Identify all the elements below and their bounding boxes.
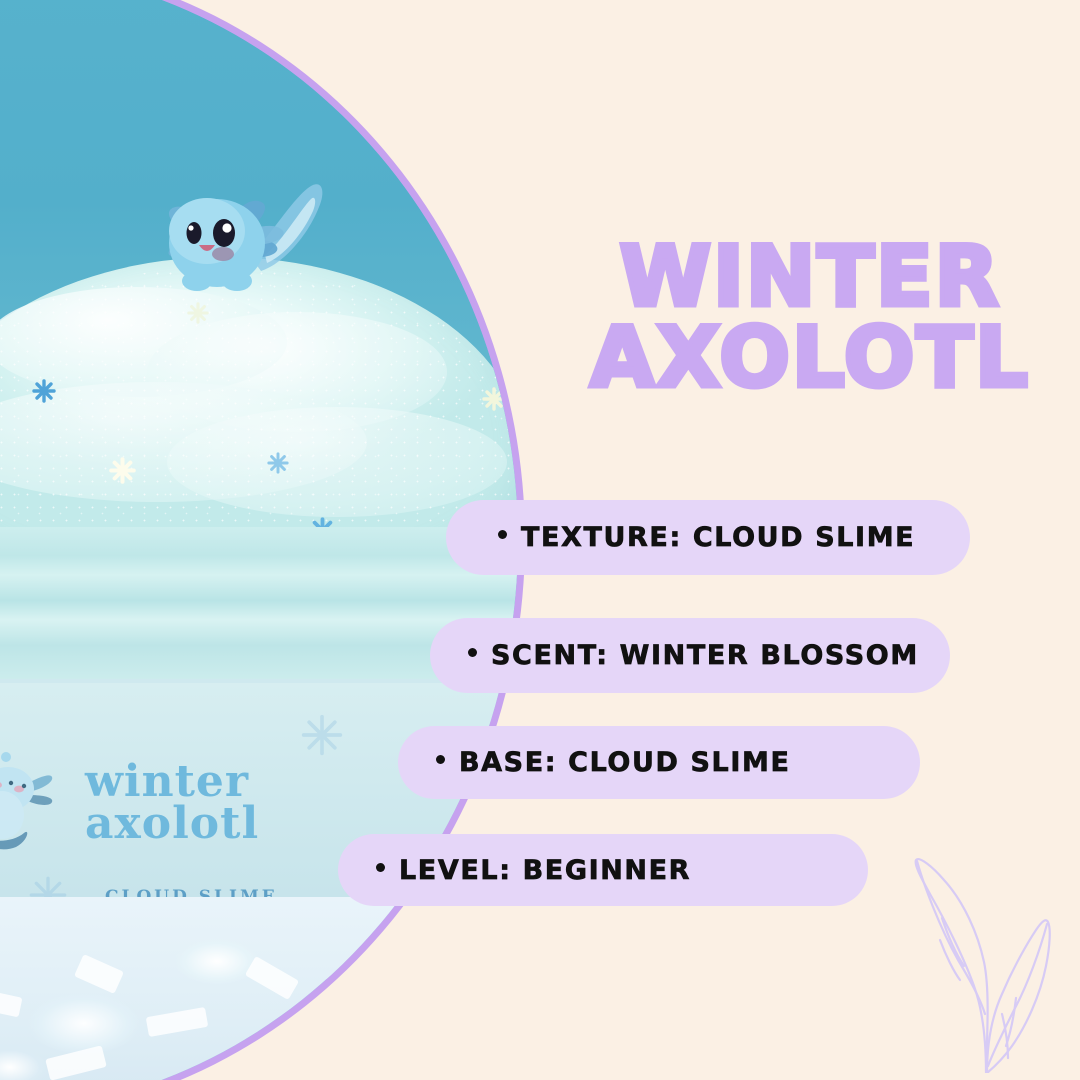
bullet-icon [436,755,445,764]
product-title: WINTER AXOLOTL [540,236,1080,399]
axolotl-charm-icon [99,159,339,319]
bullet-icon [498,530,507,539]
jar-label-brand-line2: axolotl [85,803,259,845]
bullet-icon [468,648,477,657]
spec-pill-base: BASE: CLOUD SLIME [398,726,920,799]
bullet-icon [376,863,385,872]
product-graphic-canvas: winter axolotl CLOUD SLIME WINTER AXOLOT… [0,0,1080,1080]
snowflake-sprinkle-icon [32,379,56,403]
snowflake-sprinkle-icon [109,457,136,484]
spec-pill-base-label: BASE: CLOUD SLIME [436,747,791,778]
spec-pill-scent: SCENT: WINTER BLOSSOM [430,618,950,693]
label-axolotl-illustration-icon [0,739,70,859]
spec-pill-texture: TEXTURE: CLOUD SLIME [446,500,970,575]
spec-pill-level: LEVEL: BEGINNER [338,834,868,906]
jar-label-brand-line1: winter [85,761,259,803]
snowflake-sprinkle-icon [267,452,289,474]
product-title-line-2: AXOLOTL [540,317,1080,398]
product-title-line-1: WINTER [540,236,1080,317]
snowflake-sprinkle-icon [482,387,506,411]
spec-pill-scent-label: SCENT: WINTER BLOSSOM [468,640,919,671]
spec-pill-level-label: LEVEL: BEGINNER [376,855,691,886]
leaf-line-art-icon [890,838,1075,1073]
spec-pill-texture-label: TEXTURE: CLOUD SLIME [498,522,915,553]
label-snowflake-icon [300,713,344,757]
product-photo: winter axolotl CLOUD SLIME [0,0,518,1080]
jar-label-brand: winter axolotl [85,761,259,845]
